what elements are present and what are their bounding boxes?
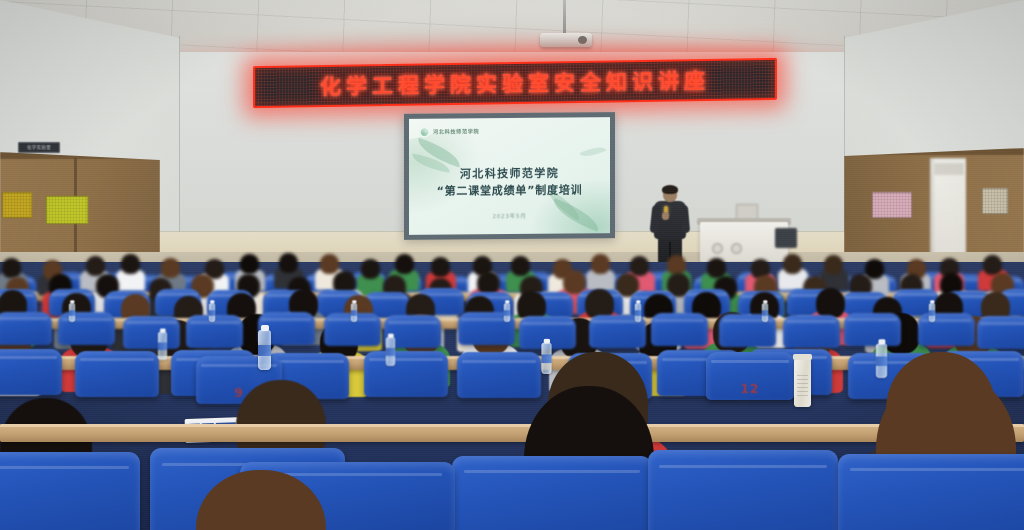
audience-member <box>395 254 414 274</box>
projection-screen: 河北科技师范学院 河北科技师范学院 “第二课堂成绩单”制度培训 2023年5月 <box>404 112 615 240</box>
bottle-cap <box>388 334 394 338</box>
door-left-sign: 化学实验室 <box>18 142 60 153</box>
tumbler-print <box>797 374 808 396</box>
auditorium-seat[interactable] <box>838 454 1024 530</box>
bottle-label <box>209 310 215 315</box>
audience-member-head <box>591 254 610 274</box>
slide-logo: 河北科技师范学院 <box>419 126 479 138</box>
auditorium-seat[interactable] <box>918 313 975 346</box>
bottle-label <box>386 348 395 356</box>
seat-number: 12 <box>706 382 794 396</box>
auditorium-seat[interactable] <box>0 349 62 395</box>
presenter-arm-right <box>680 205 690 234</box>
university-logo-icon <box>419 127 430 138</box>
audience-member <box>824 255 843 275</box>
bottle-cap <box>210 300 214 303</box>
audience-member <box>783 254 802 274</box>
water-bottle <box>350 303 356 322</box>
audience-member-head <box>431 257 450 277</box>
presentation-slide: 河北科技师范学院 河北科技师范学院 “第二课堂成绩单”制度培训 2023年5月 <box>409 117 610 235</box>
presenter-hair <box>662 185 678 194</box>
desk <box>0 424 1024 442</box>
water-bottle <box>762 303 768 322</box>
door-left-glass-pane <box>2 192 32 218</box>
wall-corner-left <box>179 36 180 242</box>
slide-logo-text: 河北科技师范学院 <box>433 128 479 135</box>
bottle-cap <box>261 325 269 331</box>
projector-lens-icon <box>578 36 587 44</box>
leaf-icon <box>579 142 606 161</box>
desk-edge <box>0 424 1024 427</box>
bottle-label <box>69 310 75 315</box>
audience-member <box>121 254 140 274</box>
door-left-sign-text: 化学实验室 <box>27 145 51 151</box>
bottle-cap <box>763 300 767 303</box>
auditorium-seat[interactable] <box>123 316 180 349</box>
bottle-label <box>350 310 356 315</box>
audience-member <box>161 258 180 278</box>
auditorium-seat[interactable] <box>844 313 901 346</box>
auditorium-seat[interactable] <box>364 351 448 397</box>
audience-member-head <box>477 271 500 295</box>
auditorium-seat[interactable] <box>452 456 652 530</box>
auditorium-seat[interactable] <box>0 452 140 530</box>
audience-member-head <box>196 470 326 530</box>
lectern-equipment <box>775 228 797 248</box>
auditorium-seat[interactable] <box>783 315 840 348</box>
water-bottle <box>258 330 271 370</box>
water-bottle <box>69 303 75 322</box>
water-bottle <box>635 303 641 322</box>
bottle-cap <box>70 300 74 303</box>
water-bottle <box>386 337 395 366</box>
audience-member-head <box>279 253 298 273</box>
water-bottle <box>158 332 167 360</box>
bottle-label <box>762 310 768 315</box>
bottle-cap <box>543 339 549 344</box>
auditorium-seat[interactable]: 12 <box>706 352 794 400</box>
audience-member-head <box>86 256 105 276</box>
auditorium-seat[interactable] <box>75 351 159 397</box>
projector-pole <box>563 0 566 34</box>
audience-member <box>279 253 298 273</box>
audience-member-head <box>161 258 180 278</box>
door-left-glass-pane <box>46 196 88 224</box>
audience-member-head <box>240 254 259 274</box>
tumbler-lid <box>793 354 812 360</box>
led-scrolling-sign: 化学工程学院实验室安全知识讲座 <box>253 58 777 108</box>
audience-member <box>431 257 450 277</box>
bottle-label <box>929 310 935 315</box>
audience-member-head <box>783 254 802 274</box>
bottle-cap <box>351 300 355 303</box>
bottle-cap <box>878 339 885 344</box>
lecture-hall-photo: 化学工程学院实验室安全知识讲座 河北科技师范学院 河北科技师范学院 “第二课堂成… <box>0 0 1024 530</box>
audience-member <box>361 259 380 279</box>
water-bottle <box>504 303 510 322</box>
audience-member-head <box>983 255 1002 275</box>
bottle-cap <box>160 329 166 333</box>
audience-member <box>86 256 105 276</box>
audience-member-head <box>824 255 843 275</box>
audience-member <box>591 254 610 274</box>
lectern-dial-icon <box>731 243 742 254</box>
auditorium-seat[interactable] <box>0 312 52 345</box>
slide-title-line-2: “第二课堂成绩单”制度培训 <box>409 181 610 199</box>
bottle-cap <box>635 300 639 303</box>
audience-member-head <box>121 254 140 274</box>
audience-member <box>477 271 500 295</box>
led-dot-matrix <box>255 60 775 106</box>
thermos-tumbler <box>794 358 811 407</box>
door-right-glass-pane <box>982 188 1008 214</box>
audience-member <box>511 256 530 276</box>
audience-member-head <box>511 256 530 276</box>
auditorium-seat[interactable] <box>648 450 838 530</box>
presenter-hand <box>662 212 669 220</box>
audience-member-head <box>361 259 380 279</box>
audience-member-head <box>2 258 21 278</box>
slide-title-line-1: 河北科技师范学院 <box>409 164 610 182</box>
bottle-label <box>258 345 271 356</box>
audience-member-head <box>395 254 414 274</box>
auditorium-seat[interactable] <box>651 313 708 346</box>
door-right-opening-shadow <box>934 163 964 175</box>
bottle-cap <box>505 300 509 303</box>
audience-member <box>196 470 326 530</box>
bottle-cap <box>930 300 934 303</box>
audience-member <box>983 255 1002 275</box>
water-bottle <box>929 303 935 322</box>
bottle-label <box>504 310 510 315</box>
bottle-label <box>158 343 167 351</box>
auditorium-seat[interactable] <box>977 316 1024 349</box>
water-bottle <box>209 303 215 322</box>
lectern-dial-icon <box>712 243 723 254</box>
door-right-glass-pane <box>872 192 912 218</box>
auditorium-seat[interactable] <box>58 312 115 345</box>
audience-member <box>240 254 259 274</box>
bottle-label <box>635 310 641 315</box>
audience-member <box>2 258 21 278</box>
